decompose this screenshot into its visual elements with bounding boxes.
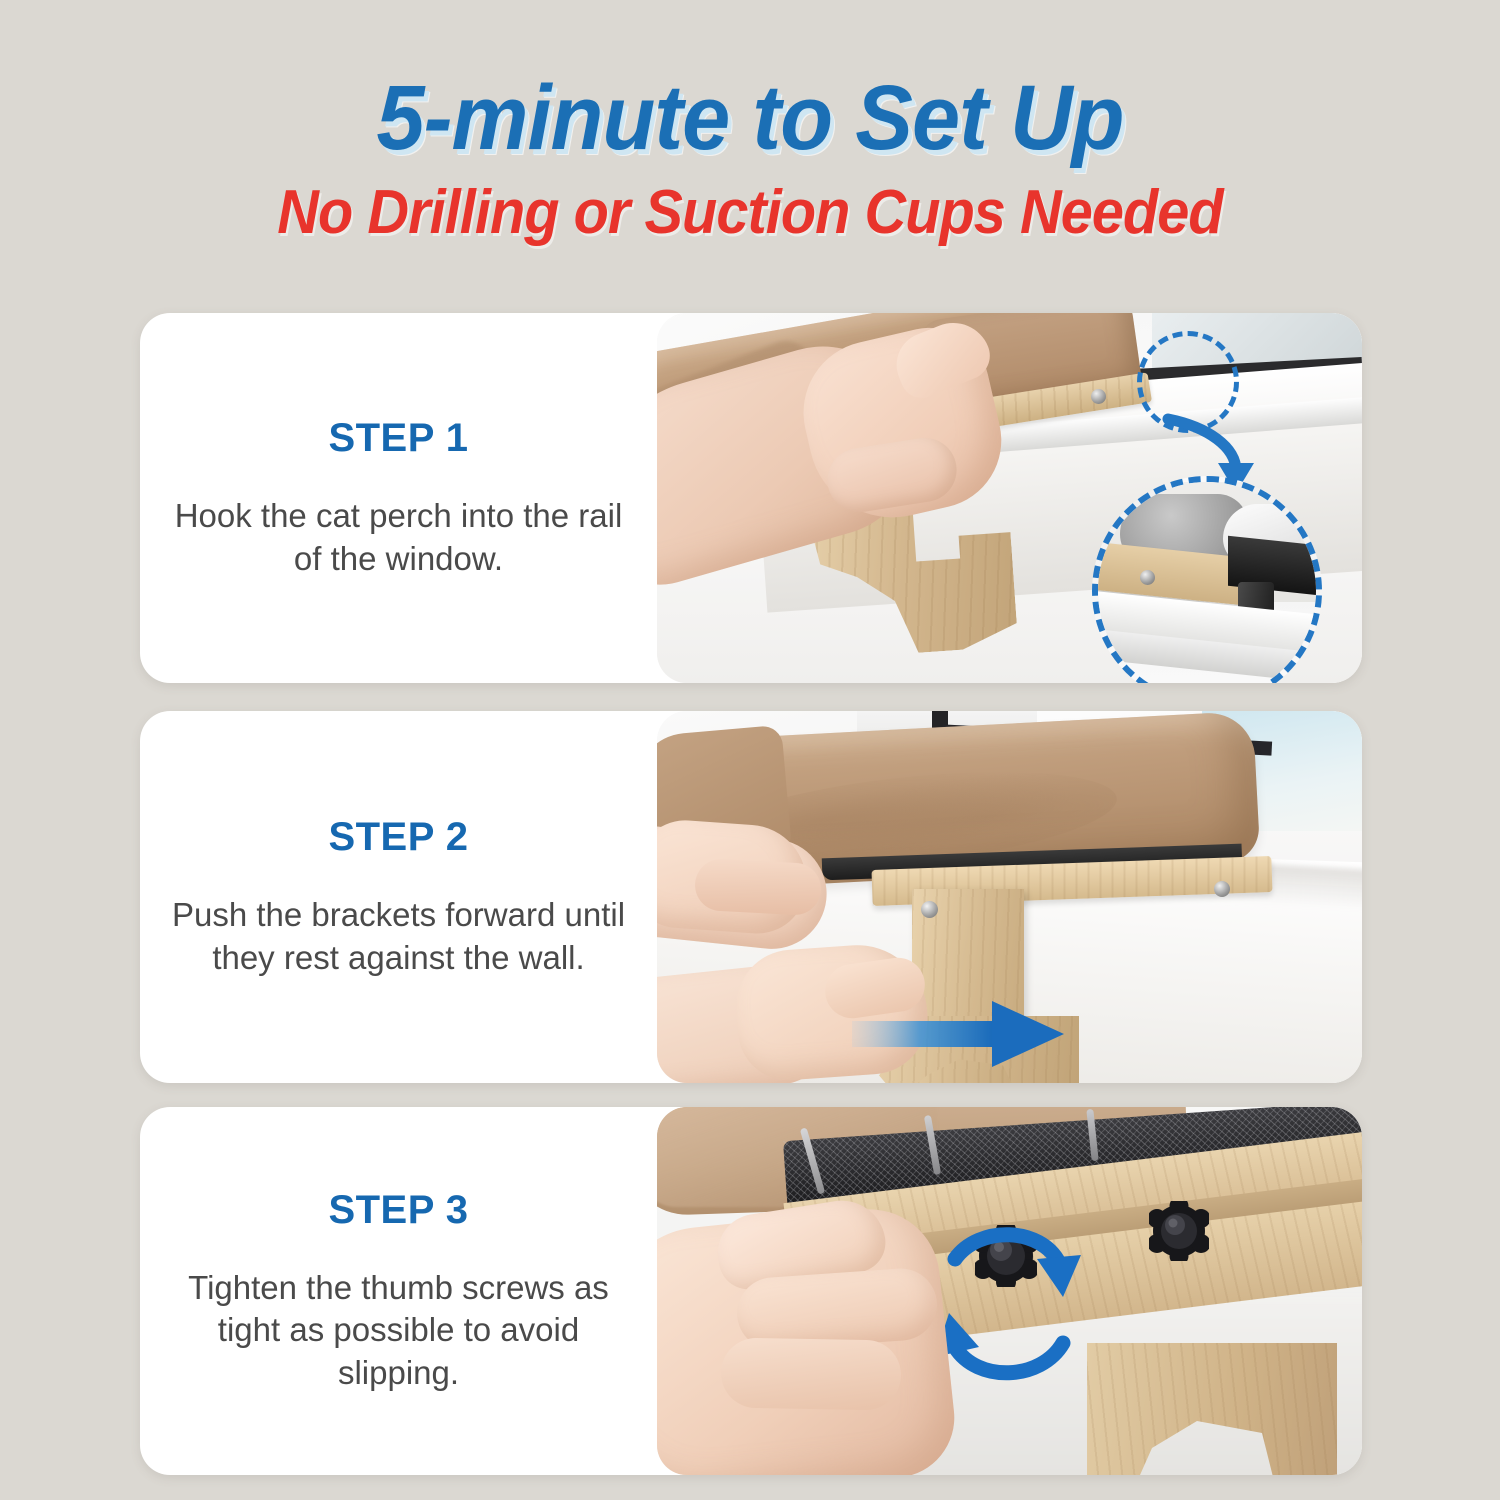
- bracket-screw-right: [1214, 881, 1230, 897]
- step-2-text-block: STEP 2 Push the brackets forward until t…: [140, 711, 657, 1083]
- step-3-description: Tighten the thumb screws as tight as pos…: [158, 1267, 639, 1394]
- step-1-description: Hook the cat perch into the rail of the …: [158, 495, 639, 579]
- step-1-photo: [657, 313, 1362, 683]
- step-3-text-block: STEP 3 Tighten the thumb screws as tight…: [140, 1107, 657, 1475]
- dashed-circle-detail-hook-on-rail: [1092, 476, 1322, 683]
- step-3-title: STEP 3: [328, 1188, 468, 1233]
- step-card-1: STEP 1 Hook the cat perch into the rail …: [140, 313, 1362, 683]
- header: 5-minute to Set Up No Drilling or Suctio…: [0, 0, 1500, 244]
- page-title: 5-minute to Set Up: [45, 0, 1455, 164]
- step-2-title: STEP 2: [328, 815, 468, 860]
- infographic-page: 5-minute to Set Up No Drilling or Suctio…: [0, 0, 1500, 1500]
- step-3-photo: [657, 1107, 1362, 1475]
- dashed-circle-highlight-icon: [1137, 331, 1239, 433]
- detail-screw: [1140, 570, 1155, 585]
- step-2-description: Push the brackets forward until they res…: [158, 894, 639, 978]
- step-1-text-block: STEP 1 Hook the cat perch into the rail …: [140, 313, 657, 683]
- step-card-2: STEP 2 Push the brackets forward until t…: [140, 711, 1362, 1083]
- board-screw: [1091, 389, 1106, 404]
- fingers-upper: [694, 858, 823, 917]
- bracket-screw-left: [921, 901, 938, 918]
- step-card-3: STEP 3 Tighten the thumb screws as tight…: [140, 1107, 1362, 1475]
- step-1-title: STEP 1: [328, 416, 468, 461]
- page-subtitle: No Drilling or Suction Cups Needed: [53, 164, 1448, 244]
- middle-finger: [720, 1337, 901, 1410]
- step-2-photo: [657, 711, 1362, 1083]
